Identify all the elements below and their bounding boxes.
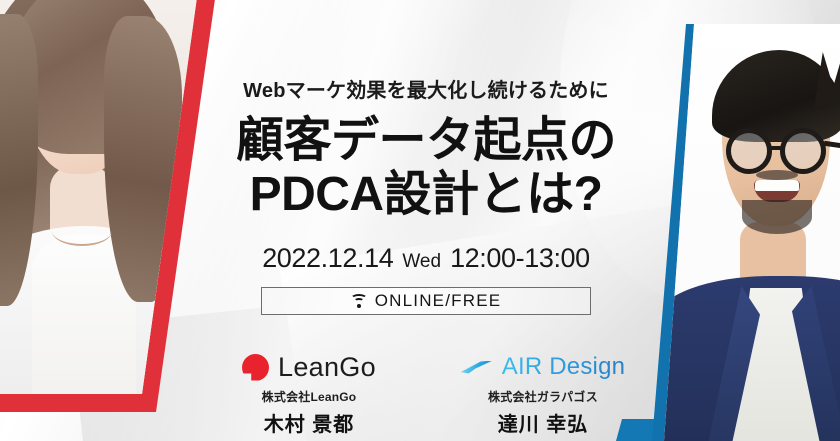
air-design-logo: AIR Design [436, 350, 650, 384]
headline-line-1: 顧客データ起点の [236, 114, 616, 167]
speakers-row: LeanGo 株式会社LeanGo 木村 景都 AIR Design 株式会社ガ… [196, 350, 656, 437]
subtitle: Webマーケ効果を最大化し続けるために [243, 74, 609, 103]
event-day-of-week: Wed [402, 251, 441, 273]
photo-right-beard [742, 200, 812, 234]
page-title: 顧客データ起点の PDCA設計とは? [236, 115, 616, 221]
speaker-company: 株式会社LeanGo [202, 388, 416, 405]
photo-right-glasses-bridge [771, 146, 783, 150]
speaker-name: 達川 幸弘 [436, 408, 650, 437]
speaker-name: 木村 景都 [202, 408, 416, 437]
photo-right-glasses-left [726, 128, 772, 174]
event-time: 12:00-13:00 [450, 243, 590, 274]
leango-circle-icon [242, 354, 269, 381]
speaker-air-design: AIR Design 株式会社ガラパゴス 達川 幸弘 [436, 350, 650, 437]
event-datetime: 2022.12.14 Wed 12:00-13:00 [262, 243, 590, 274]
leango-logo: LeanGo [202, 350, 416, 384]
speaker-photo-right [664, 24, 840, 441]
wifi-icon [351, 294, 368, 308]
online-free-label: ONLINE/FREE [375, 291, 502, 311]
speaker-company: 株式会社ガラパゴス [436, 388, 650, 405]
webinar-banner: Webマーケ効果を最大化し続けるために 顧客データ起点の PDCA設計とは? 2… [0, 0, 840, 441]
speaker-leango: LeanGo 株式会社LeanGo 木村 景都 [202, 350, 416, 437]
leango-logo-text: LeanGo [278, 352, 376, 383]
online-free-badge: ONLINE/FREE [261, 287, 591, 315]
event-date: 2022.12.14 [262, 243, 393, 274]
banner-content: Webマーケ効果を最大化し続けるために 顧客データ起点の PDCA設計とは? 2… [196, 0, 656, 441]
speaker-photo-left [0, 0, 198, 394]
photo-right-teeth [755, 180, 799, 191]
photo-left-necklace [52, 216, 112, 246]
air-design-logo-text: AIR Design [502, 353, 625, 381]
air-design-wing-icon [461, 360, 493, 375]
headline-line-2: PDCA設計とは? [236, 169, 616, 221]
photo-right-glasses-right [780, 128, 826, 174]
